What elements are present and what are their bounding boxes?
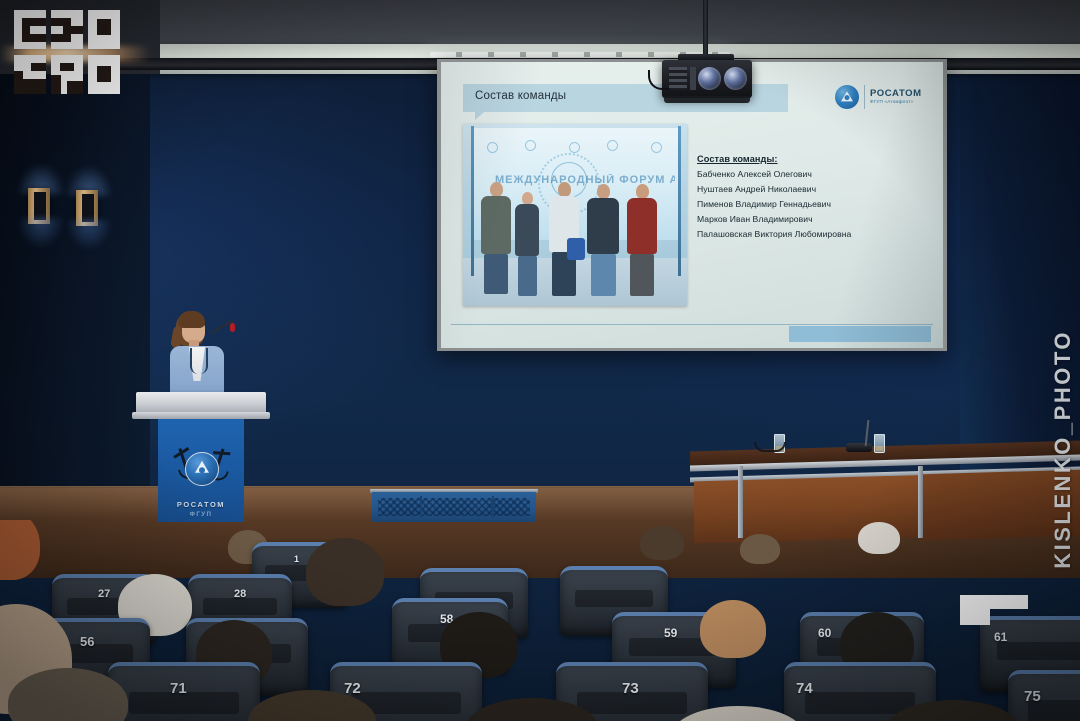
podium: РОСАТОМ ФГУП bbox=[158, 392, 244, 522]
team-photo-person bbox=[481, 182, 511, 294]
audience-head bbox=[0, 520, 40, 580]
backdrop-logo-icon bbox=[487, 142, 498, 153]
radiator-divider bbox=[420, 496, 422, 518]
logo-row-top bbox=[14, 10, 120, 49]
seat-number: 71 bbox=[170, 680, 187, 697]
presentation-slide: Состав команды РОСАТОМ ФГУП «Атомфлот» bbox=[441, 62, 943, 348]
team-photo: МЕЖДУНАРОДНЫЙ ФОРУМ АТОМЭКСПО bbox=[463, 124, 687, 306]
logo-row-bottom bbox=[14, 55, 120, 94]
audience-head bbox=[858, 522, 900, 554]
podium-text-primary: РОСАТОМ bbox=[158, 500, 244, 509]
list-item: Нуштаев Андрей Николаевич bbox=[697, 184, 877, 195]
audience-seat[interactable]: 71 bbox=[108, 662, 260, 721]
ceiling-projector bbox=[662, 60, 752, 98]
team-photo-person bbox=[627, 184, 657, 296]
seat-number: 61 bbox=[994, 630, 1007, 644]
person-legs bbox=[630, 254, 654, 296]
list-item: Палашовская Виктория Любомировна bbox=[697, 229, 877, 240]
blue-bag bbox=[567, 238, 585, 260]
atom-emblem-icon bbox=[185, 452, 219, 486]
team-photo-person bbox=[587, 184, 619, 296]
person-legs bbox=[591, 254, 616, 296]
logo-glyph-e bbox=[51, 10, 83, 49]
logo-glyph-p bbox=[14, 55, 46, 94]
audience-head bbox=[700, 600, 766, 658]
logo-glyph-r bbox=[51, 55, 83, 94]
audience-head bbox=[740, 534, 780, 564]
radiator-divider bbox=[492, 496, 494, 518]
person-torso bbox=[481, 196, 511, 254]
slide-title: Состав команды bbox=[475, 90, 566, 102]
seat-number: 74 bbox=[796, 680, 813, 697]
audience-head bbox=[306, 538, 384, 606]
table-cable bbox=[754, 442, 786, 452]
seat-number: 59 bbox=[664, 626, 677, 640]
seat-number: 27 bbox=[98, 588, 110, 600]
projector-lens-icon bbox=[724, 67, 747, 90]
slide-footer-bar: 2 bbox=[789, 326, 931, 342]
projector-panel bbox=[690, 67, 696, 90]
logo-glyph-g bbox=[14, 10, 46, 49]
backdrop-logo-icon bbox=[525, 140, 536, 151]
podium-emblem bbox=[175, 444, 227, 496]
geo-pro-logo bbox=[14, 10, 120, 94]
seat-number: 1 bbox=[294, 554, 299, 564]
sconce-downlight bbox=[56, 220, 122, 286]
rosatom-subtitle: ФГУП «Атомфлот» bbox=[870, 100, 922, 105]
table-microphone bbox=[846, 443, 872, 452]
logo-glyph-o2 bbox=[88, 55, 120, 94]
projector-keypad bbox=[669, 67, 687, 90]
team-member-list: Состав команды: Бабченко Алексей Олегови… bbox=[697, 154, 877, 244]
anchor-stock bbox=[213, 451, 230, 455]
speaker-lanyard bbox=[190, 348, 208, 374]
podium-lip bbox=[132, 412, 270, 419]
mark-bar-bottom bbox=[960, 609, 990, 625]
ceiling-dark-band bbox=[0, 0, 1080, 44]
person-torso bbox=[627, 198, 657, 254]
slide-footer-rule bbox=[451, 324, 933, 325]
rosatom-atom-icon bbox=[835, 85, 859, 109]
person-head bbox=[597, 184, 610, 199]
list-item: Бабченко Алексей Олегович bbox=[697, 169, 877, 180]
rosatom-logo: РОСАТОМ ФГУП «Атомфлот» bbox=[835, 82, 925, 112]
water-glass bbox=[874, 434, 885, 453]
seat-number: 75 bbox=[1024, 688, 1041, 705]
mark-bar-top bbox=[960, 595, 1028, 609]
person-head bbox=[558, 182, 571, 197]
person-torso bbox=[515, 204, 539, 256]
backdrop-logo-icon bbox=[569, 142, 580, 153]
backdrop-logo-icon bbox=[607, 140, 618, 151]
audience-head bbox=[640, 526, 684, 560]
radiator-grille bbox=[378, 498, 530, 516]
audience-seating: 1 27 28 56 57 58 59 60 61 bbox=[0, 520, 1080, 721]
person-legs bbox=[518, 256, 537, 296]
seat-number: 56 bbox=[80, 634, 94, 649]
screenshot-root: Состав команды РОСАТОМ ФГУП «Атомфлот» bbox=[0, 0, 1080, 721]
backdrop-stand-left bbox=[471, 126, 474, 276]
team-list-heading: Состав команды: bbox=[697, 154, 877, 164]
backdrop-logo-icon bbox=[651, 142, 662, 153]
rosatom-name: РОСАТОМ bbox=[870, 89, 922, 99]
person-torso bbox=[587, 198, 619, 254]
seat-number: 60 bbox=[818, 626, 831, 640]
team-photo-person bbox=[515, 192, 539, 296]
audience-seat[interactable]: 75 bbox=[1008, 670, 1080, 721]
projector-lens-icon bbox=[698, 67, 721, 90]
wall-sconce-right bbox=[62, 162, 116, 232]
podium-text-secondary: ФГУП bbox=[158, 511, 244, 518]
backdrop-stand-right bbox=[678, 126, 681, 276]
podium-top bbox=[136, 392, 266, 414]
podium-body: РОСАТОМ ФГУП bbox=[158, 418, 244, 522]
projector-base bbox=[664, 96, 750, 103]
person-head bbox=[490, 182, 503, 197]
photographer-watermark: KISLENKO_PHOTO bbox=[1050, 330, 1076, 569]
corner-white-mark bbox=[960, 595, 1028, 625]
logo-divider bbox=[864, 85, 865, 109]
seat-number: 28 bbox=[234, 588, 246, 600]
person-legs bbox=[484, 254, 508, 294]
projection-screen: Состав команды РОСАТОМ ФГУП «Атомфлот» bbox=[441, 62, 943, 348]
microphone-icon bbox=[230, 323, 235, 332]
seat-number: 73 bbox=[622, 680, 639, 697]
logo-glyph-o bbox=[88, 10, 120, 49]
rosatom-logo-text: РОСАТОМ ФГУП «Атомфлот» bbox=[870, 89, 922, 105]
list-item: Марков Иван Владимирович bbox=[697, 214, 877, 225]
sconce-uplight bbox=[56, 134, 122, 196]
speaker-hair bbox=[178, 311, 205, 328]
person-head bbox=[636, 184, 649, 199]
projector-mount-pole bbox=[703, 0, 708, 58]
list-item: Пименов Владимир Геннадьевич bbox=[697, 199, 877, 210]
